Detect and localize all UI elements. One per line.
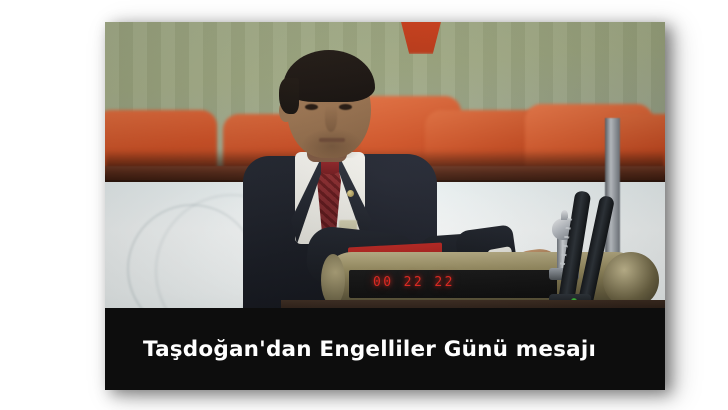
lapel-pin-icon: [347, 190, 354, 197]
page-root: 00 22 22 Taşdoğan'dan Engelliler Günü me…: [0, 0, 728, 410]
chin-shadow: [301, 128, 363, 158]
caption-headline: Taşdoğan'dan Engelliler Günü mesajı: [143, 337, 596, 362]
eye: [339, 104, 352, 110]
news-photo: 00 22 22 Taşdoğan'dan Engelliler Günü me…: [105, 22, 665, 390]
caption-band: Taşdoğan'dan Engelliler Günü mesajı: [105, 308, 665, 390]
hair-sideburn: [279, 78, 299, 114]
speech-timer-value: 00 22 22: [373, 275, 533, 290]
nose: [325, 106, 337, 132]
mouth: [319, 138, 345, 142]
eye: [305, 104, 318, 110]
podium-rail-end: [321, 254, 345, 306]
